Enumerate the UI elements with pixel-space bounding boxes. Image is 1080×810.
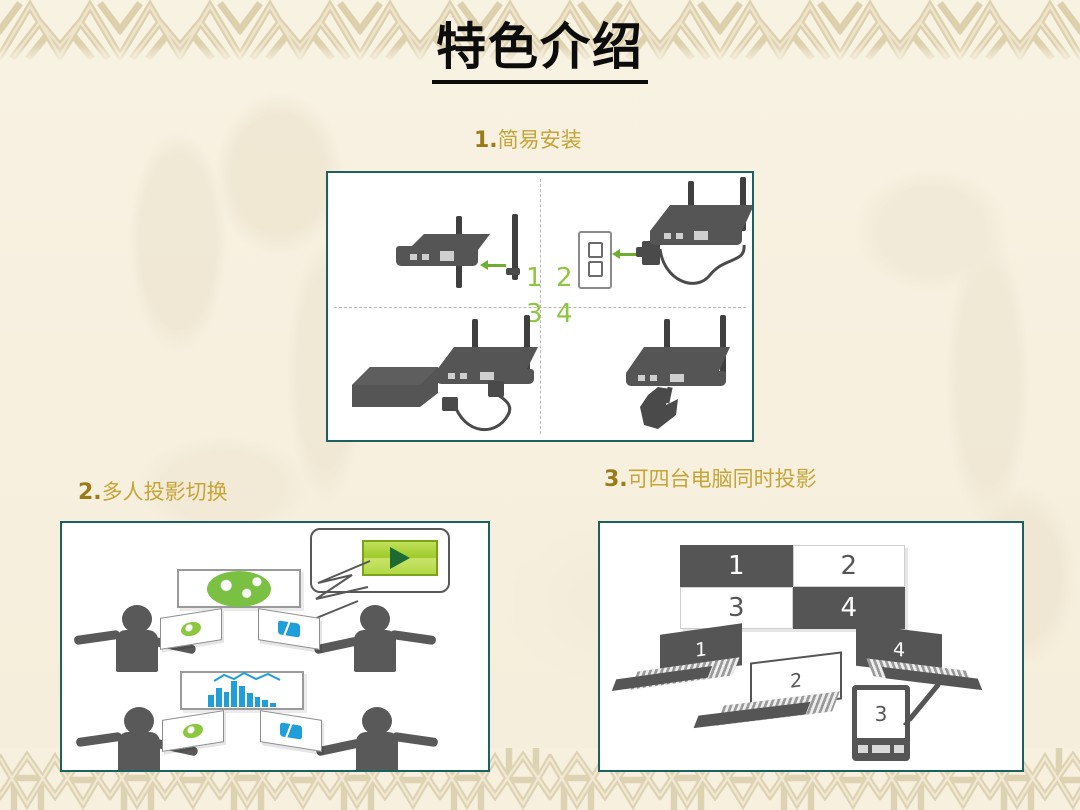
screen-cell-4: 4 bbox=[793, 587, 906, 629]
power-brick-icon bbox=[350, 355, 446, 417]
router-port-icon bbox=[410, 254, 417, 260]
person-body bbox=[118, 732, 160, 772]
pda-buttons bbox=[858, 745, 904, 753]
router-port-icon bbox=[422, 254, 429, 260]
page-title: 特色介绍 bbox=[0, 16, 1080, 84]
router-port-icon bbox=[670, 374, 684, 382]
person-arm-right bbox=[390, 630, 437, 645]
section-label-3: 可四台电脑同时投影 bbox=[628, 467, 817, 491]
section-number-3: 3. bbox=[604, 467, 628, 492]
screen-cell-1: 1 bbox=[680, 545, 793, 587]
page-title-text: 特色介绍 bbox=[432, 16, 648, 84]
person-body bbox=[116, 630, 158, 672]
section-label-2: 多人投影切换 bbox=[102, 480, 228, 504]
stylus-icon bbox=[900, 681, 944, 725]
pda-3-screen-label: 3 bbox=[857, 690, 905, 738]
tablet-blue-content bbox=[278, 620, 300, 637]
router-port-icon bbox=[676, 233, 683, 239]
play-triangle-icon bbox=[390, 547, 410, 569]
router-port-icon bbox=[440, 251, 454, 261]
router-port-icon bbox=[460, 373, 467, 379]
person-head bbox=[122, 605, 152, 633]
person-arm-right bbox=[392, 732, 439, 747]
router-port-icon bbox=[638, 375, 645, 381]
vga-connector-icon bbox=[636, 385, 706, 442]
tablet-green-content bbox=[181, 620, 201, 637]
person-head bbox=[362, 707, 392, 735]
tablet-green-content bbox=[183, 722, 203, 739]
person-right-row1 bbox=[320, 605, 435, 669]
screen-cell-3: 3 bbox=[680, 587, 793, 629]
slide-canvas: 特色介绍 1.简易安装 2.多人投影切换 3.可四台电脑同时投影 1 2 3 4 bbox=[0, 0, 1080, 810]
section-number-1: 1. bbox=[474, 128, 498, 153]
antenna-connector-icon bbox=[506, 268, 520, 275]
router-port-icon bbox=[694, 231, 708, 240]
person-arm-left bbox=[314, 637, 359, 655]
tablet-blue-content bbox=[280, 722, 302, 739]
projection-screen-grid: 1 2 3 4 bbox=[680, 545, 905, 629]
laptop-device-2: 2 bbox=[696, 657, 856, 725]
line-chart-icon bbox=[212, 671, 322, 685]
section-caption-2: 2.多人投影切换 bbox=[78, 476, 228, 506]
multi-user-projection-panel bbox=[60, 521, 490, 772]
insert-arrow-icon bbox=[480, 260, 506, 270]
section-label-1: 简易安装 bbox=[498, 128, 582, 152]
globe-icon bbox=[207, 571, 271, 607]
person-arm-left bbox=[76, 732, 123, 747]
tablet-right-row2 bbox=[260, 710, 322, 752]
person-right-row2 bbox=[322, 707, 437, 771]
person-head bbox=[360, 605, 390, 633]
section-number-2: 2. bbox=[78, 480, 102, 505]
person-arm-left bbox=[74, 630, 121, 645]
person-head bbox=[124, 707, 154, 735]
projection-screen-row1 bbox=[177, 569, 301, 608]
router-port-icon bbox=[448, 373, 455, 379]
router-port-icon bbox=[480, 372, 494, 380]
power-adapter-prongs-icon bbox=[636, 247, 644, 257]
step-1-figure bbox=[388, 218, 528, 308]
router-port-icon bbox=[650, 375, 657, 381]
router-port-icon bbox=[664, 233, 671, 239]
power-cable-icon bbox=[648, 241, 754, 321]
tablet-right-row1 bbox=[258, 608, 320, 650]
wall-outlet-icon bbox=[578, 231, 612, 289]
section-caption-3: 3.可四台电脑同时投影 bbox=[604, 463, 817, 493]
power-cord-icon bbox=[446, 391, 586, 442]
screen-cell-2: 2 bbox=[793, 545, 906, 587]
section-caption-1: 1.简易安装 bbox=[474, 124, 582, 154]
step-4-figure bbox=[588, 323, 754, 433]
four-pc-projection-panel: 1 2 3 4 1 2 4 3 bbox=[598, 521, 1024, 772]
step-2-figure bbox=[568, 183, 748, 313]
step-number-1: 1 bbox=[526, 265, 543, 291]
person-arm-left bbox=[316, 739, 361, 757]
installation-steps-panel: 1 2 3 4 bbox=[326, 171, 754, 442]
laptop-device-4: 4 bbox=[848, 627, 998, 689]
step-3-figure bbox=[346, 323, 566, 433]
